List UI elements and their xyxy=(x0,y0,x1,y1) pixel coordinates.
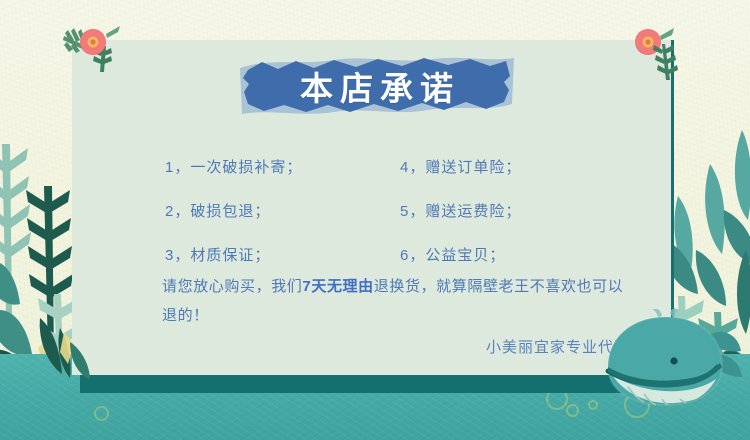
shop-signature: 小美丽宜家专业代购 xyxy=(380,336,630,357)
promise-item-3: 3，材质保证； xyxy=(165,248,400,263)
promise-item-2: 2，破损包退； xyxy=(165,204,400,219)
promise-item-1: 1，一次破损补寄； xyxy=(165,160,400,175)
promise-item-6: 6，公益宝贝； xyxy=(400,248,635,263)
paragraph-before: 请您放心购买，我们 xyxy=(162,278,302,295)
banner-title: 本店承诺 xyxy=(238,52,518,120)
promise-item-5: 5，赠送运费险； xyxy=(400,204,635,219)
title-banner: 本店承诺 xyxy=(238,52,518,120)
promise-item-4: 4，赠送订单险； xyxy=(400,160,635,175)
promo-banner-image: 本店承诺 1，一次破损补寄； 4，赠送订单险； 2，破损包退； 5，赠送运费险；… xyxy=(0,0,750,440)
flower-icon-top-right xyxy=(628,24,690,87)
whale-icon xyxy=(604,309,744,418)
paragraph-highlight: 7天无理由 xyxy=(302,278,373,295)
promise-list: 1，一次破损补寄； 4，赠送订单险； 2，破损包退； 5，赠送运费险； 3，材质… xyxy=(165,160,635,263)
return-policy-paragraph: 请您放心购买，我们7天无理由退换货，就算隔壁老王不喜欢也可以退的！ xyxy=(162,272,632,330)
flower-icon-top-left xyxy=(60,22,126,79)
